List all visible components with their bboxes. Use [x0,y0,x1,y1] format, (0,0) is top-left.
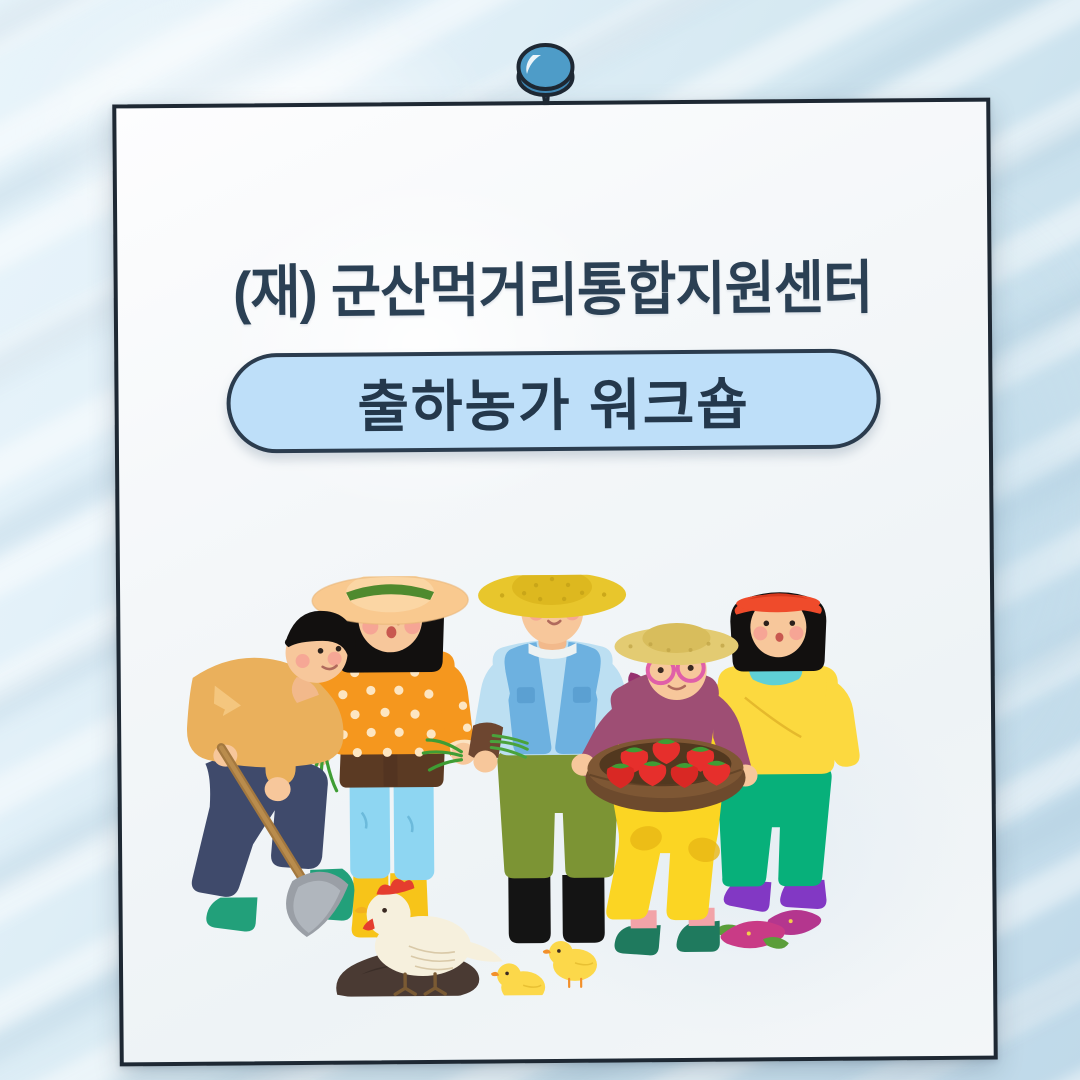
sweet-potatoes-ground [715,910,822,950]
chick-1 [491,963,545,998]
paper-highlight [151,123,694,566]
event-title-pill-wrapper: 출하농가 워크숍 [118,348,989,455]
chick-2 [543,941,597,987]
poster-canvas: (재) 군산먹거리통합지원센터 출하농가 워크숍 [0,0,1080,1080]
event-title-text: 출하농가 워크숍 [357,359,750,443]
event-title-pill: 출하농가 워크숍 [226,348,881,453]
poster-paper-sheet: (재) 군산먹거리통합지원센터 출하농가 워크숍 [112,98,998,1067]
farmers-harvest-illustration [120,572,998,999]
organization-title: (재) 군산먹거리통합지원센터 [143,240,961,330]
